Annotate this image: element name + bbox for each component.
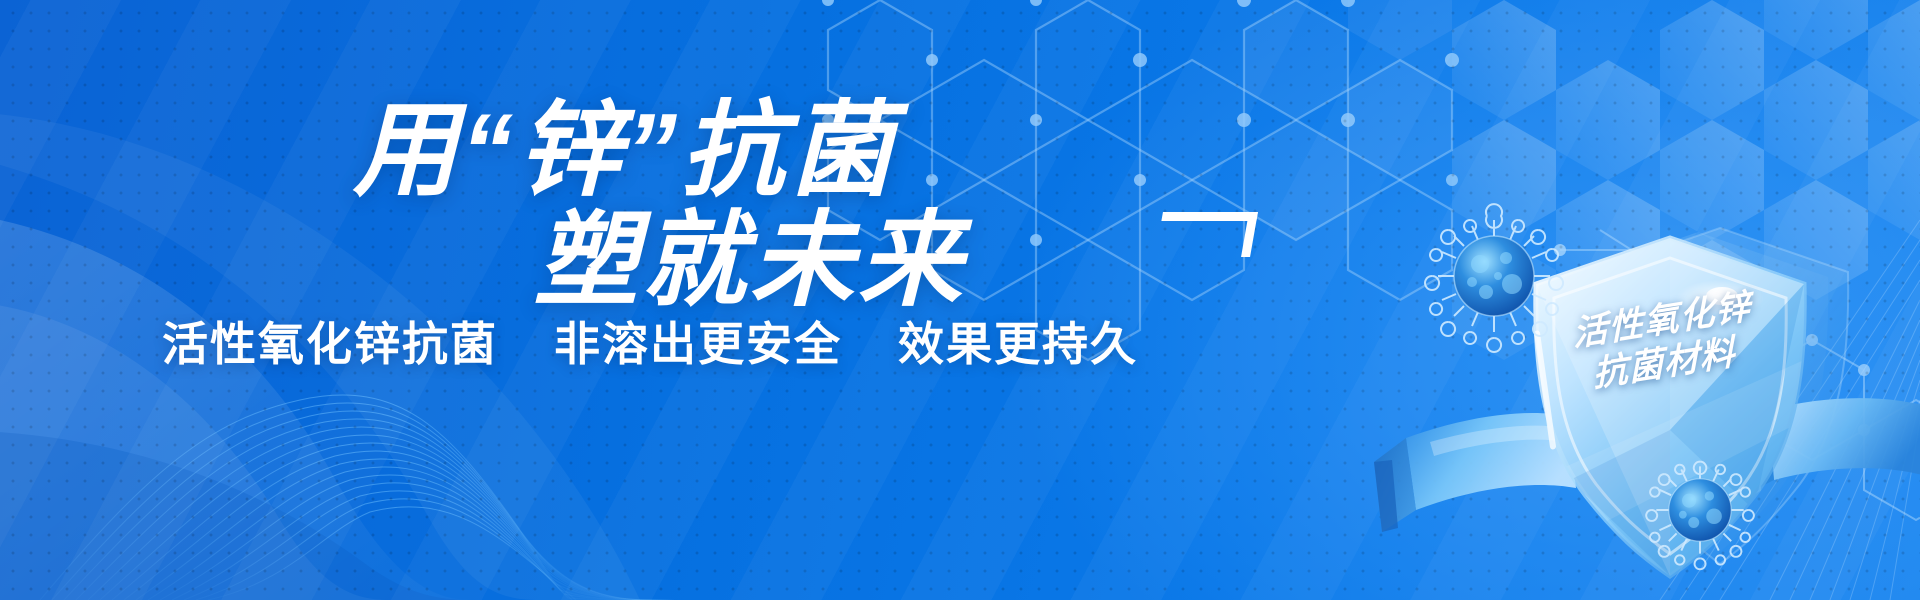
promo-banner: 活性氧化锌 抗菌材料 用“锌”抗菌 塑就未来 活性氧化锌抗菌 非溶出更安全 效果… — [0, 0, 1920, 600]
headline-line-2-wrap: 塑就未来 — [0, 206, 1290, 316]
subtitle-item-1: 活性氧化锌抗菌 — [162, 308, 498, 374]
headline-line-1: 用“锌”抗菌 — [0, 96, 1290, 206]
headline: 用“锌”抗菌 塑就未来 — [0, 96, 1290, 316]
subtitle-item-3: 效果更持久 — [898, 308, 1138, 374]
shield-graphic: 活性氧化锌 抗菌材料 — [1370, 180, 1920, 600]
corner-bracket-icon — [1155, 212, 1258, 257]
subtitle-item-2: 非溶出更安全 — [554, 308, 842, 374]
subtitle-row: 活性氧化锌抗菌 非溶出更安全 效果更持久 — [0, 308, 1300, 374]
headline-line-2: 塑就未来 — [534, 203, 966, 319]
